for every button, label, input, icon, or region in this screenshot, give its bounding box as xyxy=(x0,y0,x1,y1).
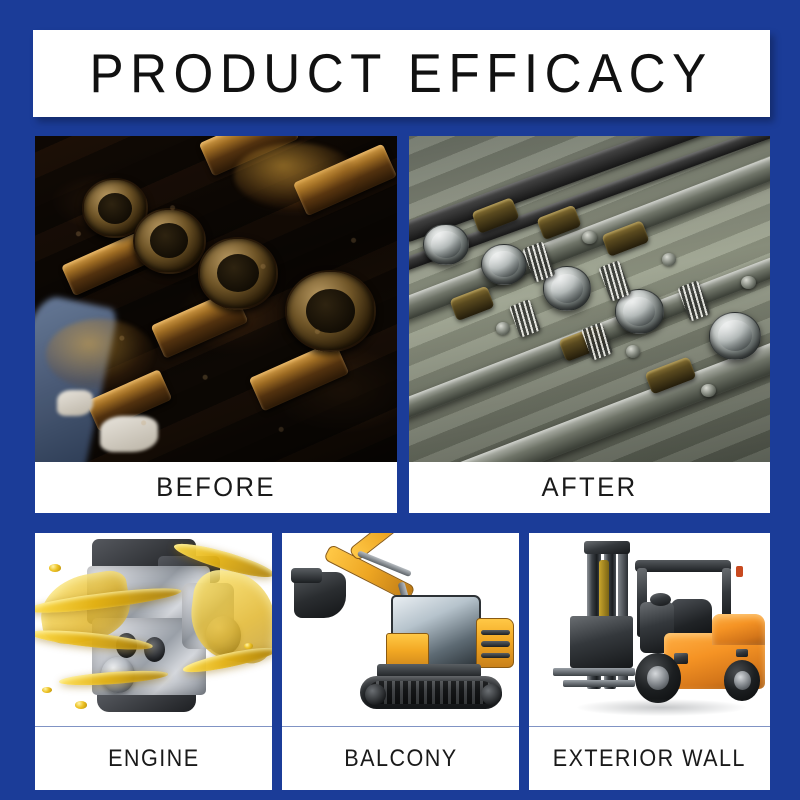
excavator-photo xyxy=(282,533,519,726)
photo-detail-bolt xyxy=(662,253,676,266)
after-caption: AFTER xyxy=(409,462,770,513)
photo-detail-bolt xyxy=(626,345,640,358)
photo-detail-oil-smear xyxy=(46,319,155,391)
photo-detail-counterweight xyxy=(712,614,765,645)
exterior-wall-caption-label: EXTERIOR WALL xyxy=(553,747,746,771)
photo-detail-vent-louvre xyxy=(481,653,509,659)
page-title: PRODUCT EFFICACY xyxy=(90,46,713,101)
photo-detail-vent-louvre xyxy=(481,630,509,636)
photo-detail-front-wheel xyxy=(635,653,681,703)
forklift-photo xyxy=(529,533,770,726)
photo-detail-oil-pan xyxy=(97,695,197,712)
header-band: PRODUCT EFFICACY xyxy=(33,30,770,117)
photo-detail-track-sprocket xyxy=(481,684,502,705)
product-efficacy-poster: PRODUCT EFFICACY BEFORE xyxy=(0,0,800,800)
engine-caption-label: ENGINE xyxy=(108,747,199,771)
balcony-caption: BALCONY xyxy=(282,726,519,790)
photo-detail-cam-journal xyxy=(151,289,248,359)
exterior-wall-caption: EXTERIOR WALL xyxy=(529,726,770,790)
photo-detail-cam-journal xyxy=(249,340,350,411)
photo-detail-mast-crosshead xyxy=(584,541,630,555)
photo-detail-tail-light xyxy=(736,649,748,657)
photo-detail-vent-louvre xyxy=(481,641,509,647)
photo-detail-valve-spring xyxy=(598,260,631,301)
photo-detail-valve-bore xyxy=(82,178,148,237)
panel-balcony: BALCONY xyxy=(282,533,519,790)
photo-detail-overhead-guard xyxy=(635,560,731,572)
panel-engine: ENGINE xyxy=(35,533,272,790)
photo-detail-cam-journal xyxy=(198,136,299,176)
photo-detail-ground-shadow xyxy=(577,699,746,716)
photo-detail-bolt xyxy=(741,276,755,289)
after-caption-label: AFTER xyxy=(542,474,638,501)
balcony-caption-label: BALCONY xyxy=(344,747,457,771)
after-engine-photo xyxy=(409,136,770,462)
photo-detail-fork-carriage xyxy=(570,616,633,668)
engine-caption: ENGINE xyxy=(35,726,272,790)
photo-detail-oil-droplet xyxy=(42,687,51,693)
photo-detail-cam-journal xyxy=(293,144,397,217)
photo-detail-valve-spring xyxy=(509,299,541,337)
photo-detail-valve-bucket xyxy=(423,224,468,265)
photo-detail-fork-tine xyxy=(563,680,635,688)
photo-detail-valve-bore xyxy=(133,208,206,274)
photo-detail-metal-chunk xyxy=(100,416,158,452)
photo-detail-oil-droplet xyxy=(75,701,87,709)
before-engine-photo xyxy=(35,136,397,462)
photo-detail-bolt xyxy=(582,231,596,244)
photo-detail-cam-journal xyxy=(86,369,172,431)
panel-before: BEFORE xyxy=(35,136,397,513)
photo-detail-rear-light xyxy=(736,566,743,578)
photo-detail-valve-bucket xyxy=(481,244,526,285)
photo-detail-oil-smear xyxy=(234,143,357,208)
photo-detail-valve-bore xyxy=(198,237,278,309)
photo-detail-metal-chunk xyxy=(57,390,93,416)
photo-detail-valve-bucket xyxy=(709,312,762,360)
engine-oil-photo xyxy=(35,533,272,726)
photo-detail-cam-journal xyxy=(61,231,154,296)
photo-detail-bucket-linkage xyxy=(291,568,322,583)
before-caption-label: BEFORE xyxy=(156,474,276,501)
before-caption: BEFORE xyxy=(35,462,397,513)
photo-detail-bolt xyxy=(496,322,510,335)
photo-detail-bolt xyxy=(701,384,715,397)
photo-detail-excavator-stick xyxy=(348,533,421,562)
photo-detail-metal-edge xyxy=(35,292,119,462)
panel-exterior-wall: EXTERIOR WALL xyxy=(529,533,770,790)
panel-after: AFTER xyxy=(409,136,770,513)
photo-detail-valve-bore xyxy=(285,270,376,352)
photo-detail-track-idler xyxy=(365,684,386,705)
photo-detail-fork-tine xyxy=(553,668,635,676)
photo-detail-oil-droplet xyxy=(244,643,253,649)
photo-detail-rear-wheel xyxy=(724,660,760,701)
photo-detail-oil-droplet xyxy=(49,564,61,572)
